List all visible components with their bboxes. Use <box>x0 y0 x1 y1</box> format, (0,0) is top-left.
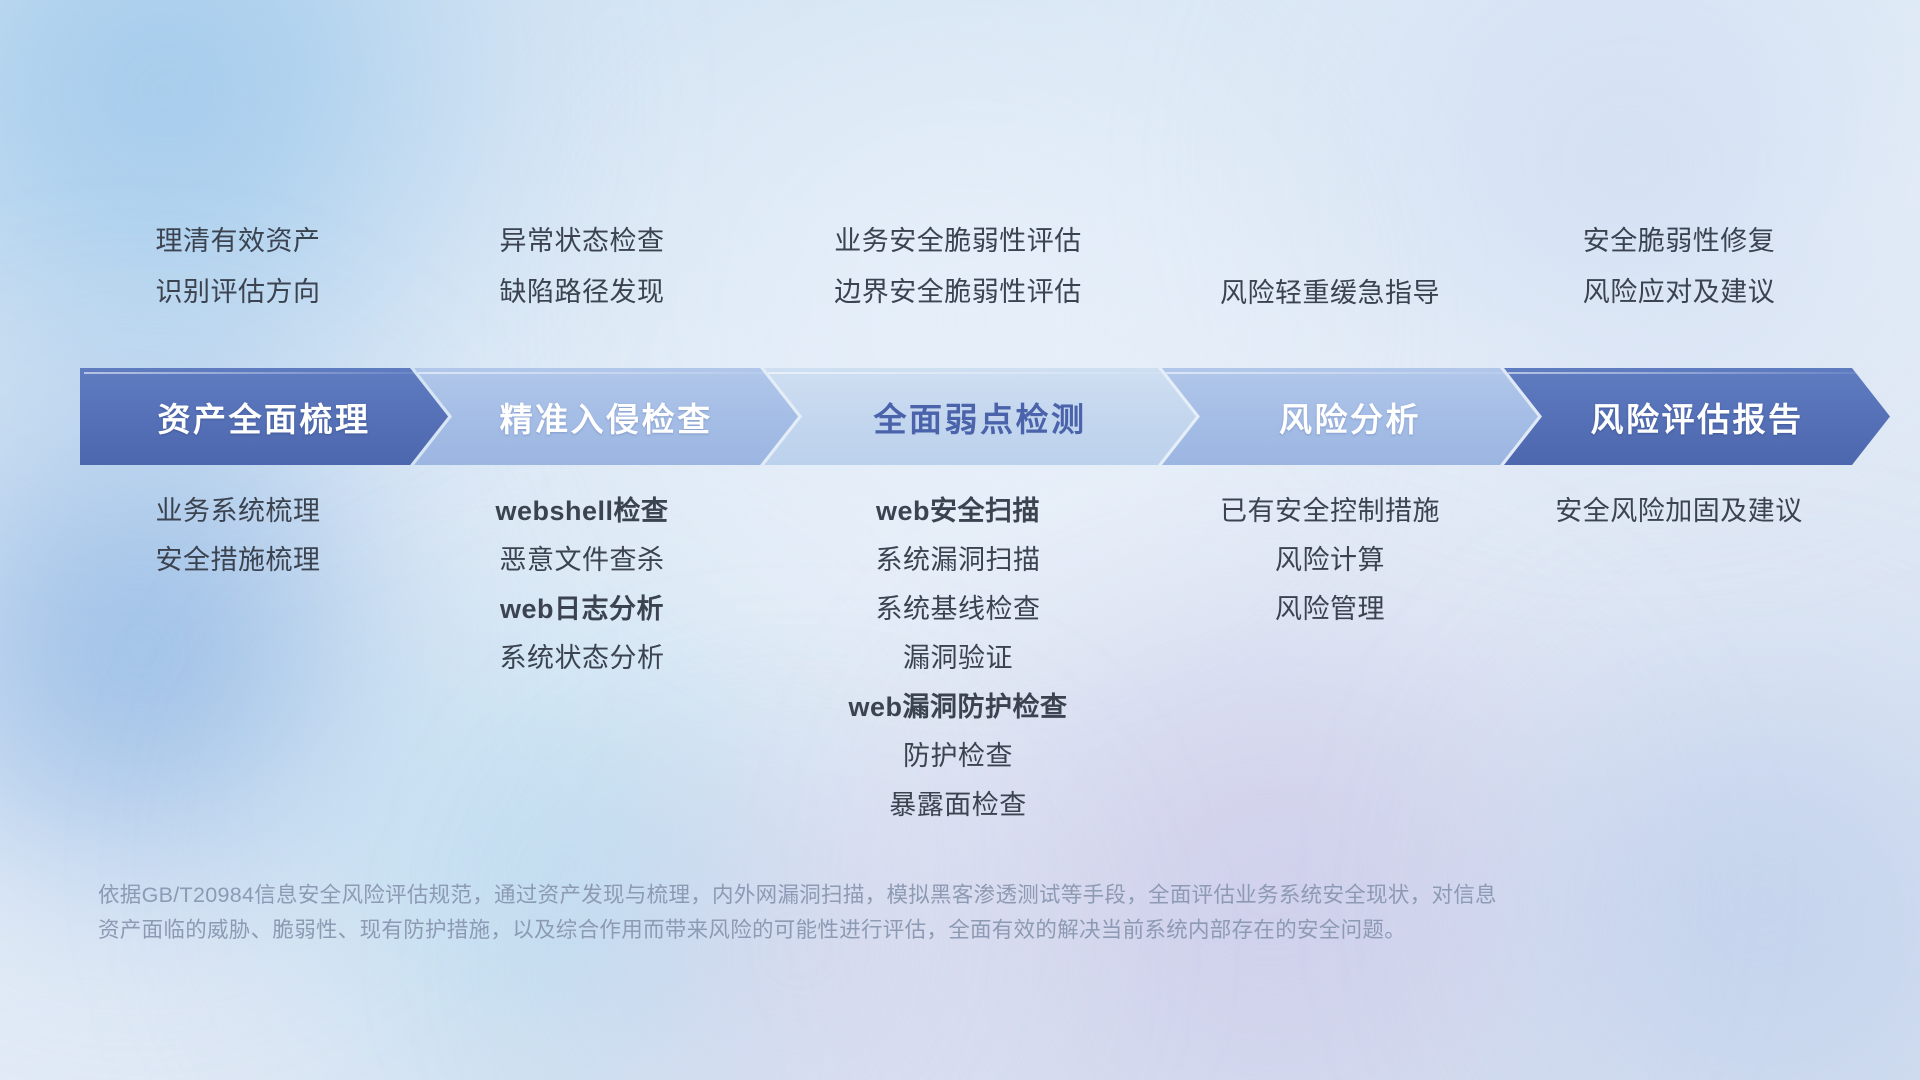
chevron-label: 精准入侵检查 <box>500 393 713 441</box>
footer-line-2: 资产面临的威胁、脆弱性、现有防护措施，以及综合作用而带来风险的可能性进行评估，全… <box>98 913 1738 948</box>
top-note: 安全脆弱性修复 <box>1583 228 1776 255</box>
bottom-note: 风险计算 <box>1275 547 1385 574</box>
top-note-group-3: 业务安全脆弱性评估边界安全脆弱性评估 <box>758 228 1158 358</box>
footer-description: 依据GB/T20984信息安全风险评估规范，通过资产发现与梳理，内外网漏洞扫描，… <box>98 878 1738 948</box>
chevron-gloss <box>1166 372 1534 374</box>
bottom-note: 恶意文件查杀 <box>500 547 665 574</box>
chevron-stage-3[interactable]: 全面弱点检测 <box>764 368 1196 465</box>
top-note: 风险应对及建议 <box>1583 279 1776 306</box>
bottom-note: 暴露面检查 <box>889 792 1027 819</box>
bottom-note-group-2: webshell检查恶意文件查杀web日志分析系统状态分析 <box>406 498 758 694</box>
top-note-group-1: 理清有效资产识别评估方向 <box>70 228 406 358</box>
bottom-note: web日志分析 <box>500 596 664 623</box>
top-note-group-4: 风险轻重缓急指导 <box>1158 228 1502 358</box>
bottom-note: web漏洞防护检查 <box>848 694 1067 721</box>
top-note: 缺陷路径发现 <box>500 279 665 306</box>
chevron-label: 风险评估报告 <box>1590 393 1803 441</box>
top-note: 边界安全脆弱性评估 <box>834 279 1082 306</box>
bottom-note: 系统漏洞扫描 <box>876 547 1041 574</box>
bottom-note: 已有安全控制措施 <box>1220 498 1440 525</box>
bottom-note: 防护检查 <box>903 743 1013 770</box>
chevron-stage-1[interactable]: 资产全面梳理 <box>80 368 448 465</box>
bottom-note: 安全措施梳理 <box>156 547 321 574</box>
bottom-note-group-3: web安全扫描系统漏洞扫描系统基线检查漏洞验证web漏洞防护检查防护检查暴露面检… <box>758 498 1158 841</box>
chevron-gloss <box>768 372 1192 374</box>
bottom-annotations-row: 业务系统梳理安全措施梳理webshell检查恶意文件查杀web日志分析系统状态分… <box>70 498 1856 841</box>
process-diagram: 理清有效资产识别评估方向异常状态检查缺陷路径发现业务安全脆弱性评估边界安全脆弱性… <box>0 0 1920 1080</box>
top-note: 识别评估方向 <box>156 279 321 306</box>
bottom-note: 系统基线检查 <box>876 596 1041 623</box>
top-note-group-5: 安全脆弱性修复风险应对及建议 <box>1502 228 1856 358</box>
footer-line-1: 依据GB/T20984信息安全风险评估规范，通过资产发现与梳理，内外网漏洞扫描，… <box>98 878 1738 913</box>
bottom-note: webshell检查 <box>495 498 668 525</box>
chevron-label: 资产全面梳理 <box>158 393 371 441</box>
bottom-note-group-5: 安全风险加固及建议 <box>1502 498 1856 547</box>
chevron-gloss <box>1508 372 1886 374</box>
bottom-note: 系统状态分析 <box>500 645 665 672</box>
top-annotations-row: 理清有效资产识别评估方向异常状态检查缺陷路径发现业务安全脆弱性评估边界安全脆弱性… <box>70 228 1856 358</box>
chevron-label: 风险分析 <box>1279 393 1421 441</box>
chevron-gloss <box>84 372 444 374</box>
chevron-stage-5[interactable]: 风险评估报告 <box>1504 368 1890 465</box>
bottom-note: web安全扫描 <box>876 498 1040 525</box>
top-note-group-2: 异常状态检查缺陷路径发现 <box>406 228 758 358</box>
top-note: 业务安全脆弱性评估 <box>834 228 1082 255</box>
top-note: 理清有效资产 <box>156 228 321 255</box>
top-note: 风险轻重缓急指导 <box>1220 280 1440 307</box>
bottom-note: 业务系统梳理 <box>156 498 321 525</box>
chevron-stage-2[interactable]: 精准入侵检查 <box>414 368 798 465</box>
bottom-note: 漏洞验证 <box>903 645 1013 672</box>
bottom-note: 安全风险加固及建议 <box>1555 498 1803 525</box>
bottom-note-group-1: 业务系统梳理安全措施梳理 <box>70 498 406 596</box>
chevron-stage-4[interactable]: 风险分析 <box>1162 368 1538 465</box>
chevron-gloss <box>418 372 794 374</box>
chevron-label: 全面弱点检测 <box>874 393 1087 441</box>
bottom-note: 风险管理 <box>1275 596 1385 623</box>
top-note: 异常状态检查 <box>500 228 665 255</box>
bottom-note-group-4: 已有安全控制措施风险计算风险管理 <box>1158 498 1502 645</box>
process-chevron-band: 资产全面梳理精准入侵检查全面弱点检测风险分析风险评估报告 <box>80 368 1856 465</box>
